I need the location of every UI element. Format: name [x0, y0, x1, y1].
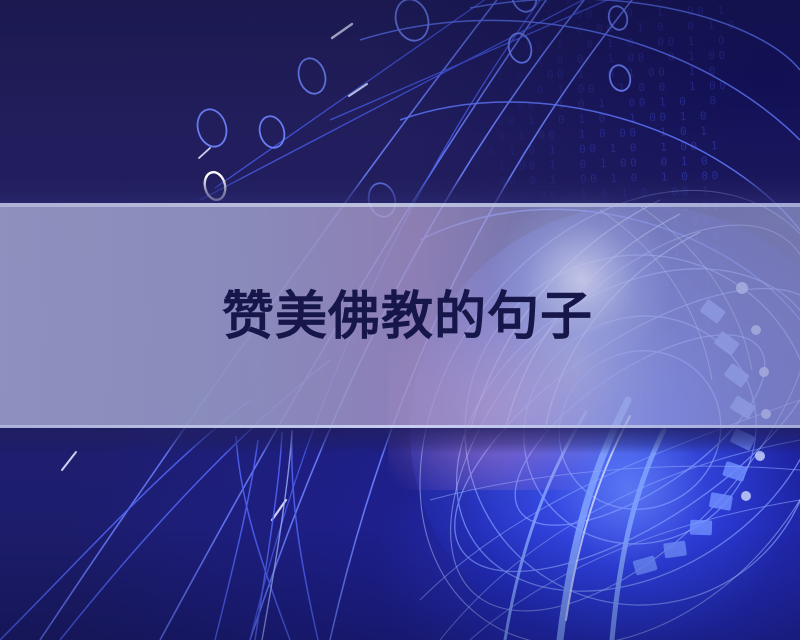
banner-image: 0 1 00 0 1 00 0 1 0 1 0 0 1 00 1 0 1 00 … [0, 0, 800, 640]
banner-shadow-top [0, 176, 800, 204]
banner-title-container: 赞美佛教的句子 [0, 207, 800, 427]
page-title: 赞美佛教的句子 [222, 291, 593, 343]
banner-shadow-bottom [0, 428, 800, 454]
